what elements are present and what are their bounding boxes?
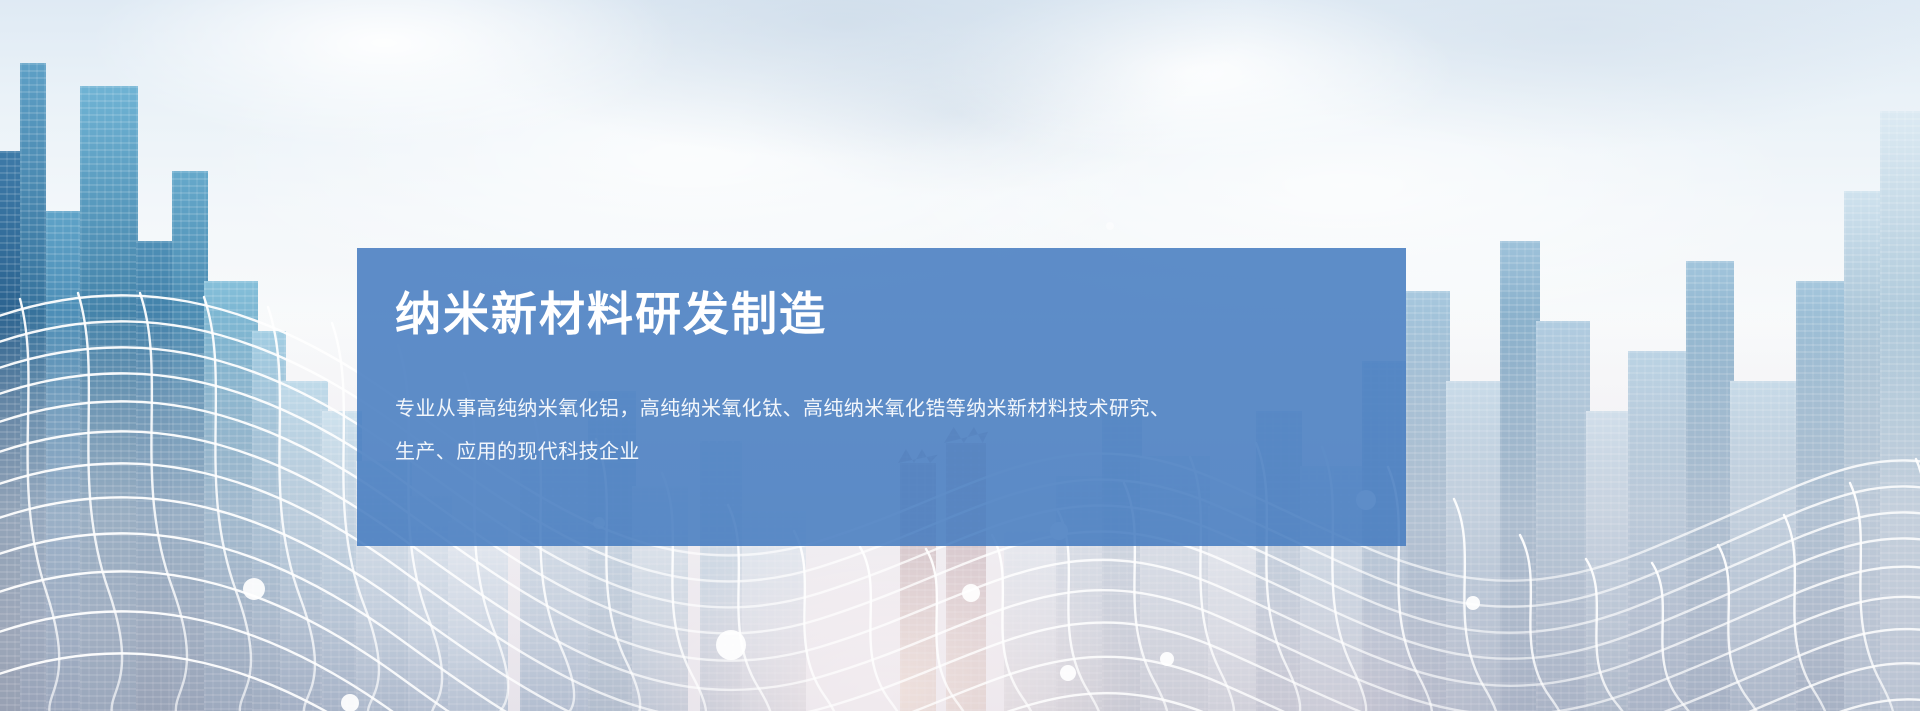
page-subtitle: 专业从事高纯纳米氧化铝，高纯纳米氧化钛、高纯纳米氧化锆等纳米新材料技术研究、 生… (395, 388, 1375, 474)
mesh-dot (341, 694, 359, 711)
mesh-dot (1060, 665, 1076, 681)
hero-banner: 纳米新材料研发制造 专业从事高纯纳米氧化铝，高纯纳米氧化钛、高纯纳米氧化锆等纳米… (0, 0, 1920, 711)
mesh-dot (1160, 652, 1174, 666)
mesh-dot (243, 578, 265, 600)
mesh-dot (716, 630, 746, 660)
hero-text-panel: 纳米新材料研发制造 专业从事高纯纳米氧化铝，高纯纳米氧化钛、高纯纳米氧化锆等纳米… (357, 248, 1406, 546)
mesh-dot (962, 584, 980, 602)
page-title: 纳米新材料研发制造 (395, 286, 827, 342)
subtitle-line-1: 专业从事高纯纳米氧化铝，高纯纳米氧化钛、高纯纳米氧化锆等纳米新材料技术研究、 (395, 388, 1375, 431)
mesh-dot (1106, 222, 1114, 230)
subtitle-line-2: 生产、应用的现代科技企业 (395, 431, 1375, 474)
mesh-dot (1466, 596, 1480, 610)
